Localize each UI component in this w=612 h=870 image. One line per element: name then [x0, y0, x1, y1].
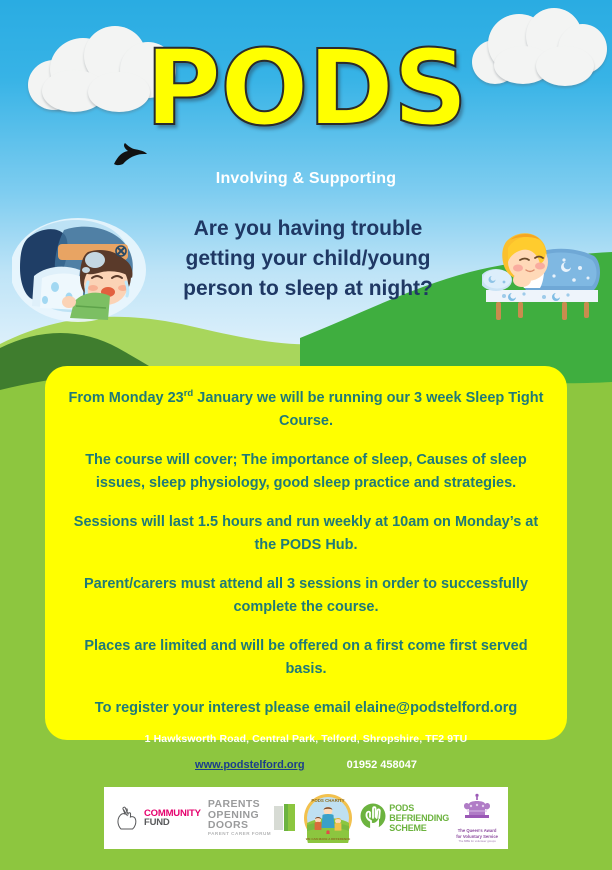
paragraph-pre: From Monday 23: [69, 390, 184, 406]
panel-paragraph-sessions: Sessions will last 1.5 hours and run wee…: [67, 511, 545, 557]
panel-paragraph-date: From Monday 23rd January we will be runn…: [67, 382, 545, 433]
parents-opening-doors-logo: PARENTS OPENING DOORS PARENT CARER FORUM: [208, 799, 296, 836]
panel-paragraph-attendance: Parent/carers must attend all 3 sessions…: [67, 573, 545, 619]
ordinal-suffix: rd: [184, 388, 194, 399]
crown-icon: [457, 793, 497, 823]
course-details-panel: From Monday 23rd January we will be runn…: [45, 366, 567, 740]
pod-subtitle: PARENT CARER FORUM: [208, 832, 271, 837]
website-link[interactable]: www.podstelford.org: [195, 759, 305, 771]
queens-award-line3: The MBE for volunteer groups: [456, 840, 498, 843]
crossed-fingers-hand-icon: [114, 805, 140, 831]
paragraph-post: January we will be running our 3 week Sl…: [193, 390, 543, 429]
befriending-line1: PODS: [389, 803, 449, 813]
pods-charity-badge: PODS CHARITY WE CAN MAKE A DIFFERENCE: [303, 793, 353, 843]
pods-befriending-scheme-logo: PODS BEFRIENDING SCHEME: [360, 803, 449, 833]
contact-line: www.podstelford.org01952 458047: [0, 759, 612, 771]
page-title: Are you having trouble getting your chil…: [140, 214, 476, 304]
distressed-child-in-bed-illustration: [12, 214, 154, 326]
headline-line-3: person to sleep at night?: [140, 274, 476, 304]
panel-paragraph-content: The course will cover; The importance of…: [67, 449, 545, 495]
panel-paragraph-places: Places are limited and will be offered o…: [67, 635, 545, 681]
panel-paragraph-register: To register your interest please email e…: [67, 697, 545, 720]
community-fund-logo: COMMUNITY FUND: [114, 805, 201, 831]
bird-icon: [112, 142, 148, 166]
sleeping-child-in-bed-illustration: [482, 218, 606, 326]
phone-number: 01952 458047: [347, 759, 417, 771]
community-fund-line2: FUND: [144, 818, 201, 828]
headline-line-2: getting your child/young: [140, 244, 476, 274]
tagline: Involving & Supporting: [0, 170, 612, 188]
poster: PODS Involving & Supporting: [0, 0, 612, 870]
befriending-line2: BEFRIENDING: [389, 813, 449, 823]
pods-logo: PODS: [0, 36, 612, 140]
address-text: 1 Hawksworth Road, Central Park, Telford…: [0, 733, 612, 745]
queens-award-logo: The Queen's Award for Voluntary Service …: [456, 793, 498, 843]
badge-arc-top: PODS CHARITY: [312, 798, 345, 803]
befriending-line3: SCHEME: [389, 823, 449, 833]
partner-logo-strip: COMMUNITY FUND PARENTS OPENING DOORS PAR…: [104, 787, 508, 849]
pod-line3: DOORS: [208, 820, 271, 831]
open-door-icon: [274, 804, 296, 832]
hand-tree-icon: [360, 803, 386, 833]
queens-award-line1: The Queen's Award: [456, 829, 498, 833]
family-figures-icon: PODS CHARITY WE CAN MAKE A DIFFERENCE: [303, 793, 353, 843]
badge-arc-bottom: WE CAN MAKE A DIFFERENCE: [306, 837, 351, 841]
headline-line-1: Are you having trouble: [140, 214, 476, 244]
